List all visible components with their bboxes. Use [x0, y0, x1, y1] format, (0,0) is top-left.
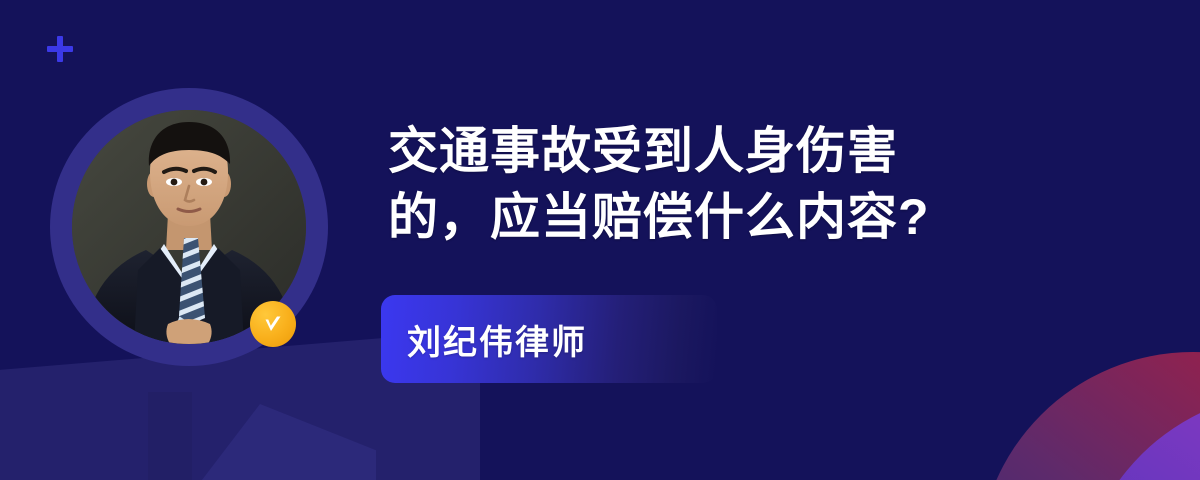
plus-icon-bar-vertical — [57, 36, 63, 62]
avatar[interactable] — [50, 88, 328, 366]
verified-check-icon — [250, 301, 296, 347]
lawyer-qa-banner: 交通事故受到人身伤害 的，应当赔偿什么内容? 刘纪伟律师 — [0, 0, 1200, 480]
page-title: 交通事故受到人身伤害 的，应当赔偿什么内容? — [388, 118, 1088, 250]
lawyer-name-label: 刘纪伟律师 — [381, 315, 587, 364]
plus-icon — [47, 36, 73, 62]
headline-block: 交通事故受到人身伤害 的，应当赔偿什么内容? — [388, 118, 1088, 250]
background-polygon-divider — [148, 392, 192, 480]
lawyer-name-badge[interactable]: 刘纪伟律师 — [381, 295, 717, 383]
